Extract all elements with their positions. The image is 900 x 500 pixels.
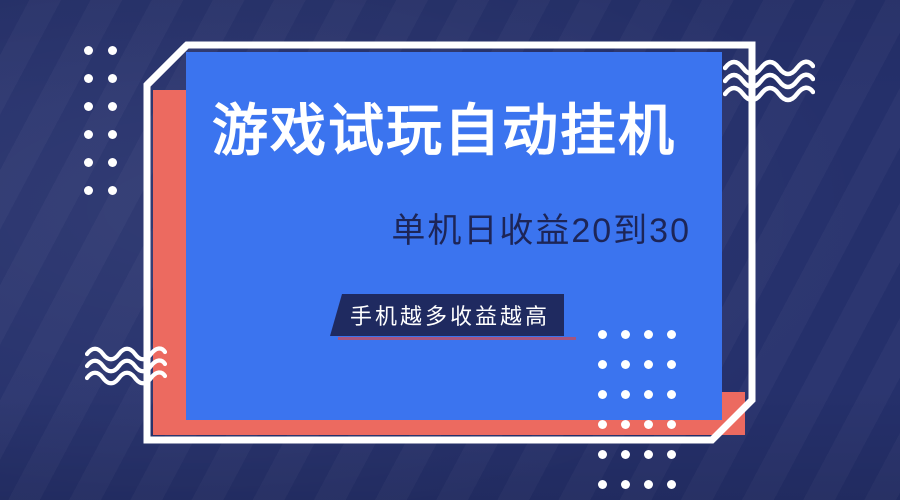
dot [108, 130, 117, 139]
dot [621, 330, 630, 339]
dot [667, 480, 676, 489]
dot [108, 186, 117, 195]
dot [84, 186, 93, 195]
dot [598, 420, 607, 429]
dot [667, 330, 676, 339]
dot [667, 360, 676, 369]
dot [621, 420, 630, 429]
wave-decoration-bottom-left-icon [85, 345, 167, 392]
dot [84, 46, 93, 55]
dot [598, 480, 607, 489]
highlight-badge: 手机越多收益越高 [330, 294, 564, 336]
dot [598, 360, 607, 369]
poster-title: 游戏试玩自动挂机 [186, 103, 746, 159]
dot [598, 390, 607, 399]
dot [84, 130, 93, 139]
dot [644, 390, 653, 399]
dot-grid-bottom-right [598, 330, 676, 489]
dot [621, 390, 630, 399]
dot [84, 74, 93, 83]
dot [621, 480, 630, 489]
dot [621, 360, 630, 369]
dot [644, 330, 653, 339]
dot [644, 480, 653, 489]
highlight-badge-underline [338, 337, 576, 340]
dot [84, 158, 93, 167]
dot [667, 390, 676, 399]
dot [108, 46, 117, 55]
dot [598, 330, 607, 339]
dot [108, 102, 117, 111]
dot [621, 450, 630, 459]
poster-subtitle: 单机日收益20到30 [186, 214, 691, 248]
wave-decoration-top-right-icon [723, 58, 815, 109]
dot [667, 450, 676, 459]
dot [108, 74, 117, 83]
highlight-badge-text: 手机越多收益越高 [330, 294, 564, 336]
dot [644, 360, 653, 369]
dot-grid-left [84, 46, 117, 195]
dot [108, 158, 117, 167]
dot [598, 450, 607, 459]
dot [84, 102, 93, 111]
dot [644, 450, 653, 459]
dot [644, 420, 653, 429]
dot [667, 420, 676, 429]
promo-poster: 游戏试玩自动挂机 单机日收益20到30 手机越多收益越高 [0, 0, 900, 500]
